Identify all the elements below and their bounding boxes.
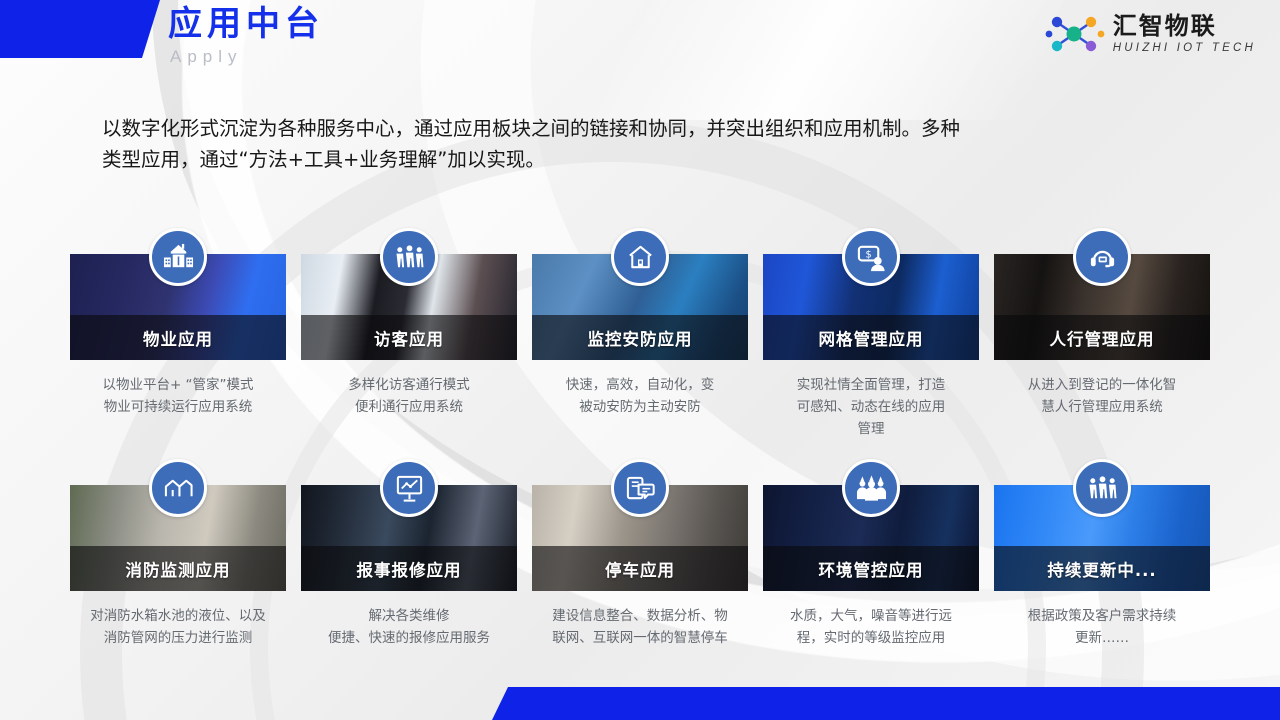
application-card[interactable]: 持续更新中...根据政策及客户需求持续更新…… [994, 459, 1210, 649]
card-description-line: 便利通行应用系统 [303, 396, 515, 418]
application-card[interactable]: 停车应用建设信息整合、数据分析、物联网、互联网一体的智慧停车 [532, 459, 748, 649]
intro-line-2: 类型应用，通过“方法+工具+业务理解”加以实现。 [102, 144, 1172, 175]
presentation-chart-icon [380, 459, 438, 517]
svg-text:$: $ [865, 249, 871, 260]
mobile-message-icon [611, 459, 669, 517]
face-recognition-icon [1073, 228, 1131, 286]
card-description-line: 以物业平台+ “管家”模式 [72, 374, 284, 396]
application-card[interactable]: 访客应用多样化访客通行模式便利通行应用系统 [301, 228, 517, 440]
card-description: 以物业平台+ “管家”模式物业可持续运行应用系统 [70, 374, 286, 418]
application-card[interactable]: 物业应用以物业平台+ “管家”模式物业可持续运行应用系统 [70, 228, 286, 440]
application-card[interactable]: 监控安防应用快速，高效，自动化，变被动安防为主动安防 [532, 228, 748, 440]
card-title: 监控安防应用 [532, 315, 748, 360]
card-description: 从进入到登记的一体化智慧人行管理应用系统 [994, 374, 1210, 418]
application-card[interactable]: 环境管控应用水质，大气，噪音等进行远程，实时的等级监控应用 [763, 459, 979, 649]
brand-logo: 汇智物联 HUIZHI IOT TECH [1045, 10, 1256, 58]
card-row-2: 消防监测应用对消防水箱水池的液位、以及消防管网的压力进行监测报事报修应用解决各类… [0, 459, 1280, 649]
card-description-line: 多样化访客通行模式 [303, 374, 515, 396]
card-description-line: 更新…… [996, 627, 1208, 649]
card-description-line: 对消防水箱水池的液位、以及 [72, 605, 284, 627]
application-card-grid: 物业应用以物业平台+ “管家”模式物业可持续运行应用系统访客应用多样化访客通行模… [0, 228, 1280, 649]
molecule-network-icon [1045, 10, 1105, 58]
card-description-line: 可感知、动态在线的应用 [765, 396, 977, 418]
card-description: 根据政策及客户需求持续更新…… [994, 605, 1210, 649]
footer-bar [0, 687, 1280, 720]
card-title: 报事报修应用 [301, 546, 517, 591]
intro-paragraph: 以数字化形式沉淀为各种服务中心，通过应用板块之间的链接和协同，并突出组织和应用机… [102, 113, 1172, 175]
card-row-1: 物业应用以物业平台+ “管家”模式物业可持续运行应用系统访客应用多样化访客通行模… [0, 228, 1280, 440]
card-title: 消防监测应用 [70, 546, 286, 591]
card-description: 多样化访客通行模式便利通行应用系统 [301, 374, 517, 418]
card-description-line: 管理 [765, 418, 977, 440]
logo-name-en: HUIZHI IOT TECH [1113, 43, 1256, 55]
title-block: 应用中台 Apply [168, 2, 324, 68]
intro-line-1: 以数字化形式沉淀为各种服务中心，通过应用板块之间的链接和协同，并突出组织和应用机… [102, 113, 1172, 144]
header-corner-shape [0, 0, 160, 58]
crowd-icon [842, 459, 900, 517]
people-group-icon [1073, 459, 1131, 517]
application-card[interactable]: $网格管理应用实现社情全面管理，打造可感知、动态在线的应用管理 [763, 228, 979, 440]
card-title: 停车应用 [532, 546, 748, 591]
slide-canvas: 应用中台 Apply [0, 0, 1280, 720]
card-title: 环境管控应用 [763, 546, 979, 591]
buildings-icon [149, 459, 207, 517]
card-description-line: 建设信息整合、数据分析、物 [534, 605, 746, 627]
card-title: 访客应用 [301, 315, 517, 360]
application-card[interactable]: 报事报修应用解决各类维修便捷、快速的报修应用服务 [301, 459, 517, 649]
card-description: 解决各类维修便捷、快速的报修应用服务 [301, 605, 517, 649]
application-card[interactable]: 消防监测应用对消防水箱水池的液位、以及消防管网的压力进行监测 [70, 459, 286, 649]
card-description-line: 联网、互联网一体的智慧停车 [534, 627, 746, 649]
card-description-line: 实现社情全面管理，打造 [765, 374, 977, 396]
logo-name-cn: 汇智物联 [1113, 14, 1256, 38]
card-description-line: 便捷、快速的报修应用服务 [303, 627, 515, 649]
card-description-line: 物业可持续运行应用系统 [72, 396, 284, 418]
card-title: 网格管理应用 [763, 315, 979, 360]
card-title: 人行管理应用 [994, 315, 1210, 360]
card-description-line: 程，实时的等级监控应用 [765, 627, 977, 649]
card-description-line: 从进入到登记的一体化智 [996, 374, 1208, 396]
page-header: 应用中台 Apply [0, 0, 1280, 86]
card-description: 快速，高效，自动化，变被动安防为主动安防 [532, 374, 748, 418]
card-description-line: 慧人行管理应用系统 [996, 396, 1208, 418]
card-description: 水质，大气，噪音等进行远程，实时的等级监控应用 [763, 605, 979, 649]
card-description: 实现社情全面管理，打造可感知、动态在线的应用管理 [763, 374, 979, 440]
card-description: 对消防水箱水池的液位、以及消防管网的压力进行监测 [70, 605, 286, 649]
home-shield-icon [611, 228, 669, 286]
card-person-icon: $ [842, 228, 900, 286]
card-description-line: 快速，高效，自动化，变 [534, 374, 746, 396]
people-group-icon [380, 228, 438, 286]
page-subtitle: Apply [168, 46, 324, 68]
card-description-line: 根据政策及客户需求持续 [996, 605, 1208, 627]
card-description-line: 被动安防为主动安防 [534, 396, 746, 418]
card-description-line: 解决各类维修 [303, 605, 515, 627]
card-description-line: 水质，大气，噪音等进行远 [765, 605, 977, 627]
card-title: 持续更新中... [994, 546, 1210, 591]
card-title: 物业应用 [70, 315, 286, 360]
card-description-line: 消防管网的压力进行监测 [72, 627, 284, 649]
page-title: 应用中台 [168, 2, 324, 46]
card-description: 建设信息整合、数据分析、物联网、互联网一体的智慧停车 [532, 605, 748, 649]
house-estate-icon [149, 228, 207, 286]
application-card[interactable]: 人行管理应用从进入到登记的一体化智慧人行管理应用系统 [994, 228, 1210, 440]
logo-text: 汇智物联 HUIZHI IOT TECH [1113, 14, 1256, 55]
